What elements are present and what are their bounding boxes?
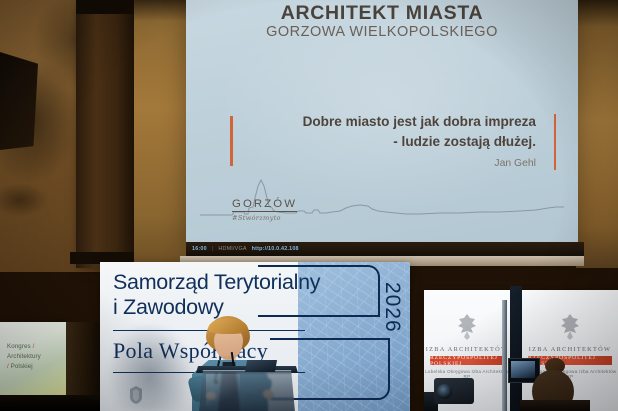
wooden-beam: [76, 0, 134, 268]
rollup-slash-1: /: [33, 343, 35, 350]
wall-amber-left: [134, 0, 186, 268]
quote-line-1: Dobre miasto jest jak dobra impreza: [230, 112, 556, 132]
tripod-stand: [502, 300, 507, 411]
izba-highlight-1: RZECZYPOSPOLITEJ POLSKIEJ: [430, 356, 504, 365]
operator-shoulders: [520, 400, 590, 411]
slide-title: ARCHITEKT MIASTA: [186, 2, 578, 25]
foreground-dark-strip: [0, 395, 100, 411]
wall-amber-right: [576, 0, 618, 268]
speaker-hair-fringe: [208, 318, 248, 334]
slide-quote-block: Dobre miasto jest jak dobra impreza - lu…: [230, 112, 556, 169]
quote-accent-bar-left: [230, 116, 233, 166]
kongres-rollup-text: Kongres / Architektury / Polskiej: [7, 342, 41, 373]
camera-lens-icon: [437, 384, 452, 399]
rollup-line-2: Architektury: [7, 353, 41, 360]
conference-photo: ARCHITEKT MIASTA GORZOWA WIELKOPOLSKIEGO…: [0, 0, 618, 411]
banner-heading-line1: Samorząd Terytorialny: [113, 270, 320, 295]
quote-accent-bar-right: [554, 114, 557, 170]
status-separator: |: [212, 246, 214, 252]
projector-status-bar: 16:00 | HDMI/VGA http://10.0.42.108: [186, 242, 584, 256]
banner-year: 2026: [380, 282, 404, 333]
gorzow-logo: GORZÓW #Stwórzmyto: [232, 198, 297, 222]
gorzow-logo-word: GORZÓW: [232, 198, 297, 212]
izba-highlight-text-1: RZECZYPOSPOLITEJ POLSKIEJ: [430, 355, 504, 367]
projection-screen: ARCHITEKT MIASTA GORZOWA WIELKOPOLSKIEGO…: [186, 0, 578, 256]
status-source: HDMI/VGA: [218, 246, 246, 252]
slide-subtitle: GORZOWA WIELKOPOLSKIEGO: [186, 24, 578, 40]
wall-speaker-icon: [0, 52, 38, 150]
banner-heading: Samorząd Terytorialny i Zawodowy: [113, 270, 320, 321]
speaker-shadow-on-banner: [108, 322, 192, 411]
quote-author: Jan Gehl: [230, 158, 556, 169]
rollup-line-3: Polskiej: [11, 363, 33, 370]
polish-eagle-icon: [557, 312, 583, 342]
laptop-on-podium: [245, 360, 277, 372]
quote-line-2: - ludzie zostają dłużej.: [230, 132, 556, 152]
camera-operator-figure: [518, 356, 592, 411]
izba-title-1: IZBA ARCHITEKTÓW: [424, 346, 510, 353]
gorzow-logo-tagline: #Stwórzmyto: [232, 214, 297, 222]
izba-title-2: IZBA ARCHITEKTÓW: [522, 346, 618, 353]
polish-eagle-icon: [454, 312, 480, 342]
podium-reflection: [206, 374, 240, 407]
rollup-line-1: Kongres: [7, 343, 31, 350]
status-time: 16:00: [192, 246, 207, 252]
beam-cap-top: [76, 0, 134, 14]
status-url: http://10.0.42.108: [252, 246, 299, 252]
rollup-slash-2: /: [7, 363, 9, 370]
